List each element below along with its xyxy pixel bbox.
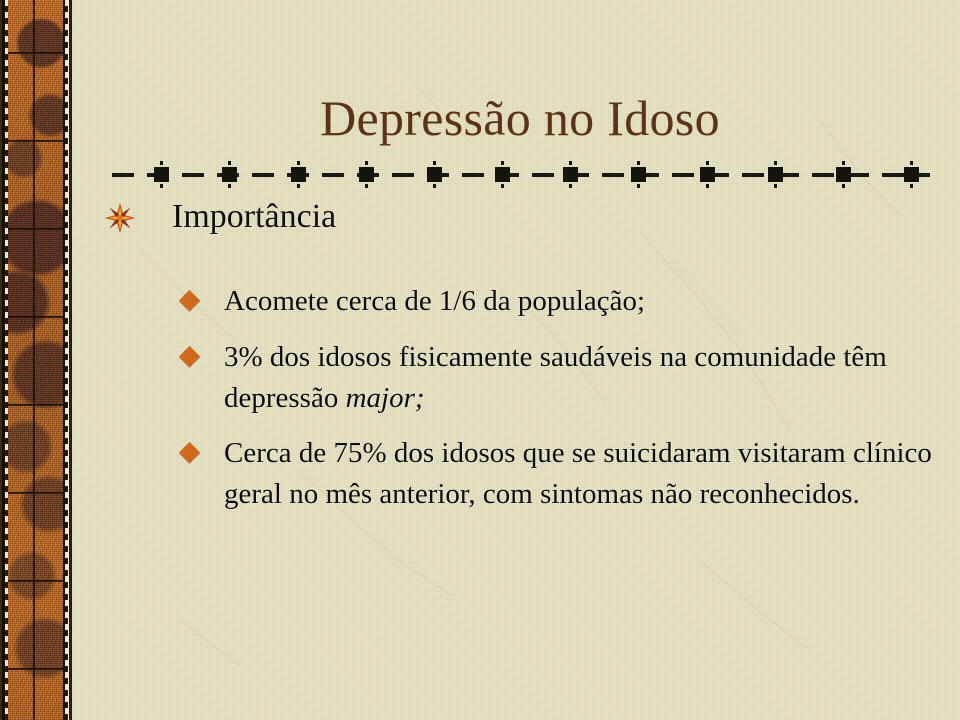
bullet-level2-text: Cerca de 75% dos idosos que se suicidara… [224,433,934,514]
divider-marker [768,167,783,182]
divider-marker [222,167,237,182]
bullet-level2-list: Acomete cerca de 1/6 da população;3% dos… [104,281,934,514]
bullet-level2-item: Acomete cerca de 1/6 da população; [182,281,934,322]
divider-marker [700,167,715,182]
divider-marker [631,167,646,182]
border-rule-left [2,0,5,720]
title-divider [112,164,930,186]
left-decorative-border [0,0,72,720]
emphasis-text: major; [346,382,425,414]
border-dash-rail-right [65,0,68,720]
divider-marker [563,167,578,182]
border-outer-rule-right [69,0,72,720]
divider-marker [291,167,306,182]
slide-title: Depressão no Idoso [112,92,928,145]
body-text: Acomete cerca de 1/6 da população; [224,285,645,317]
slide-body: Importância Acomete cerca de 1/6 da popu… [104,196,934,529]
divider-marker [154,167,169,182]
divider-marker [495,167,510,182]
slide: Depressão no Idoso Importância A [0,0,960,720]
body-text: Cerca de 75% dos idosos que se suicidara… [224,437,932,510]
diamond-icon [179,442,200,463]
border-dash-rail-left [5,0,8,720]
diamond-icon [179,290,200,311]
bullet-level1-label: Importância [172,196,934,237]
body-text: 3% dos idosos fisicamente saudáveis na c… [224,341,887,414]
diamond-icon [179,346,200,367]
divider-marker [359,167,374,182]
star-burst-icon [104,202,138,236]
divider-marker [904,167,919,182]
bullet-level2-text: Acomete cerca de 1/6 da população; [224,281,934,322]
bullet-level2-item: Cerca de 75% dos idosos que se suicidara… [182,433,934,514]
bullet-level1-importancia: Importância [104,196,934,237]
divider-marker [836,167,851,182]
bullet-level2-item: 3% dos idosos fisicamente saudáveis na c… [182,337,934,418]
divider-marker [427,167,442,182]
border-grid-overlay [6,0,63,720]
bullet-level2-text: 3% dos idosos fisicamente saudáveis na c… [224,337,934,418]
